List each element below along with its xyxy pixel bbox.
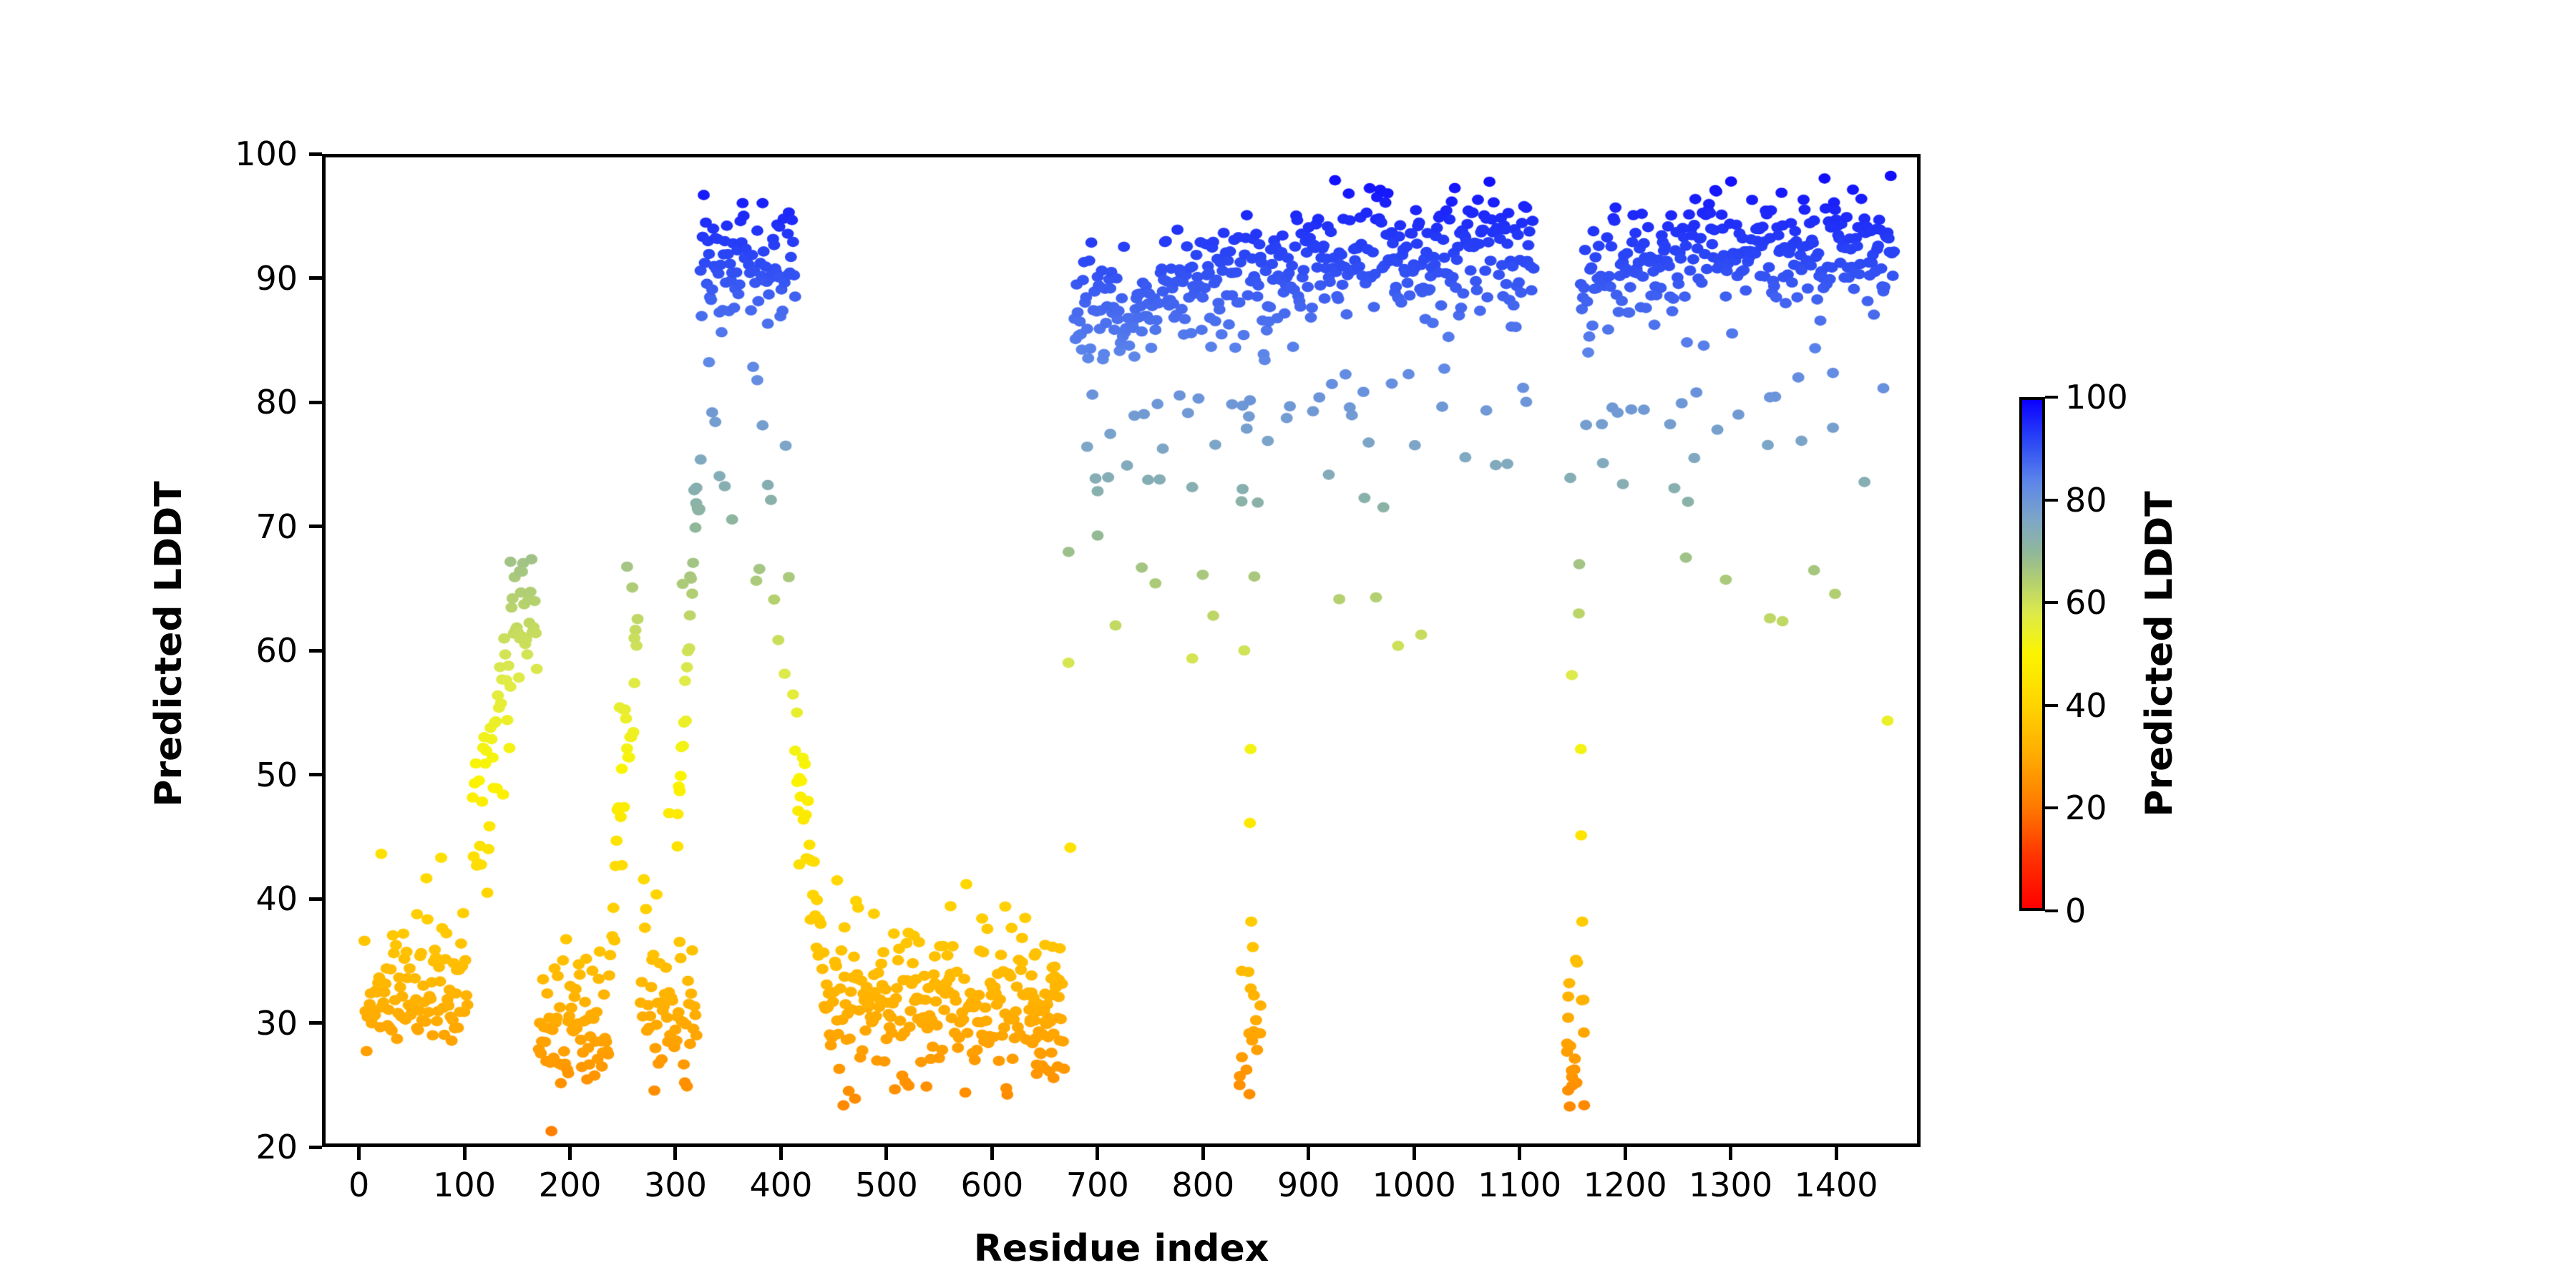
scatter-points-layer <box>326 157 1917 1143</box>
y-tick-mark <box>309 276 322 280</box>
x-tick-mark <box>990 1147 994 1160</box>
y-tick-label: 100 <box>235 137 298 170</box>
y-tick-mark <box>309 897 322 901</box>
colorbar-tick-mark <box>2045 806 2058 809</box>
x-tick-mark <box>1201 1147 1205 1160</box>
colorbar-tick-label: 80 <box>2065 484 2107 517</box>
colorbar-tick-label: 20 <box>2065 791 2107 824</box>
colorbar-tick-label: 40 <box>2065 689 2107 722</box>
colorbar-tick-mark <box>2045 396 2058 399</box>
x-tick-mark <box>1835 1147 1838 1160</box>
x-tick-mark <box>1729 1147 1732 1160</box>
x-tick-mark <box>1413 1147 1416 1160</box>
y-axis-title: Predicted LDDT <box>147 481 190 806</box>
colorbar-tick-label: 0 <box>2065 894 2086 927</box>
colorbar-tick-mark <box>2045 704 2058 707</box>
x-tick-mark <box>1307 1147 1310 1160</box>
y-tick-mark <box>309 152 322 156</box>
colorbar-tick-label: 60 <box>2065 586 2107 619</box>
y-tick-label: 70 <box>255 510 298 543</box>
colorbar-title: Predicted LDDT <box>2138 491 2181 816</box>
y-tick-mark <box>309 1146 322 1149</box>
y-tick-label: 20 <box>255 1131 298 1163</box>
x-tick-mark <box>1624 1147 1627 1160</box>
x-axis-title: Residue index <box>974 1227 1269 1270</box>
x-tick-mark <box>673 1147 677 1160</box>
colorbar-gradient <box>2019 397 2045 911</box>
y-tick-mark <box>309 649 322 653</box>
figure-canvas: 2030405060708090100 01002003004005006007… <box>0 0 2576 1288</box>
scatter-plot-axes <box>322 154 1921 1147</box>
x-tick-mark <box>1518 1147 1521 1160</box>
y-tick-mark <box>309 525 322 528</box>
x-tick-label: 1400 <box>1772 1169 1901 1201</box>
colorbar-tick-mark <box>2045 909 2058 912</box>
x-tick-mark <box>568 1147 572 1160</box>
colorbar <box>2019 397 2045 911</box>
y-tick-label: 30 <box>255 1007 298 1040</box>
y-tick-label: 90 <box>255 262 298 295</box>
x-tick-mark <box>463 1147 467 1160</box>
x-tick-mark <box>884 1147 888 1160</box>
y-tick-label: 60 <box>255 634 298 667</box>
x-tick-mark <box>779 1147 783 1160</box>
colorbar-tick-label: 100 <box>2065 381 2128 414</box>
colorbar-tick-mark <box>2045 601 2058 604</box>
y-tick-mark <box>309 401 322 404</box>
y-tick-mark <box>309 1021 322 1025</box>
x-tick-mark <box>357 1147 361 1160</box>
y-tick-label: 50 <box>255 758 298 791</box>
y-tick-label: 80 <box>255 386 298 419</box>
colorbar-tick-mark <box>2045 499 2058 502</box>
y-tick-mark <box>309 773 322 776</box>
y-tick-label: 40 <box>255 882 298 915</box>
x-tick-mark <box>1096 1147 1099 1160</box>
